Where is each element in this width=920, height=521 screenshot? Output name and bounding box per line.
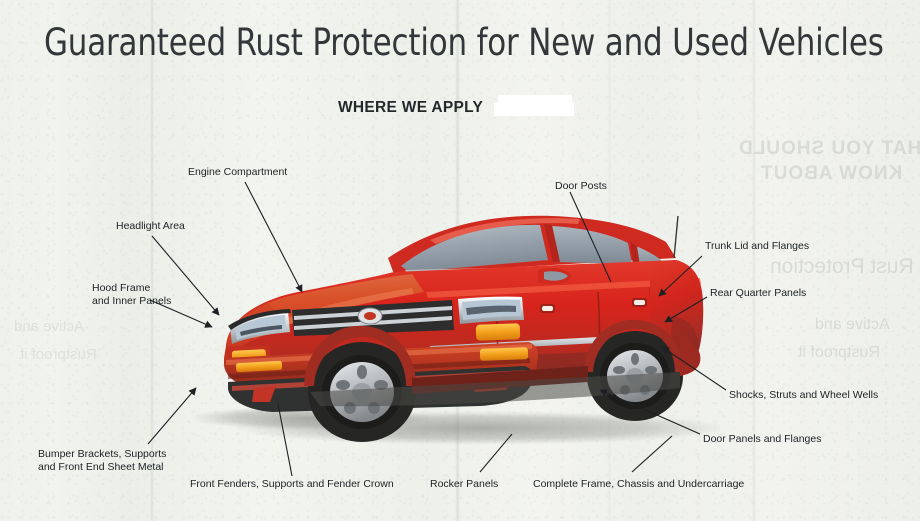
callout-label-trunk-lid: Trunk Lid and Flanges <box>705 240 809 253</box>
callout-label-door-posts: Door Posts <box>555 180 607 193</box>
callout-label-front-fenders: Front Fenders, Supports and Fender Crown <box>190 478 394 491</box>
callout-label-door-panels: Door Panels and Flanges <box>703 433 822 446</box>
page-title: Guaranteed Rust Protection for New and U… <box>44 22 884 64</box>
redaction-block <box>498 95 572 112</box>
callout-label-rear-quarter-panels: Rear Quarter Panels <box>710 287 806 300</box>
callout-label-engine-compartment: Engine Compartment <box>188 166 287 179</box>
scanned-brochure-page: WHAT YOU SHOULD KNOW ABOUT Rust Protecti… <box>0 0 920 521</box>
callout-label-hood-frame: Hood Frame and Inner Panels <box>92 282 171 307</box>
callout-label-bumper-brackets: Bumper Brackets, Supports and Front End … <box>38 448 166 473</box>
callout-label-headlight-area: Headlight Area <box>116 220 185 233</box>
callout-label-complete-frame: Complete Frame, Chassis and Undercarriag… <box>533 478 744 491</box>
callout-label-shocks-struts: Shocks, Struts and Wheel Wells <box>729 389 878 402</box>
section-heading: WHERE WE APPLY <box>338 99 483 117</box>
callout-label-rocker-panels: Rocker Panels <box>430 478 498 491</box>
